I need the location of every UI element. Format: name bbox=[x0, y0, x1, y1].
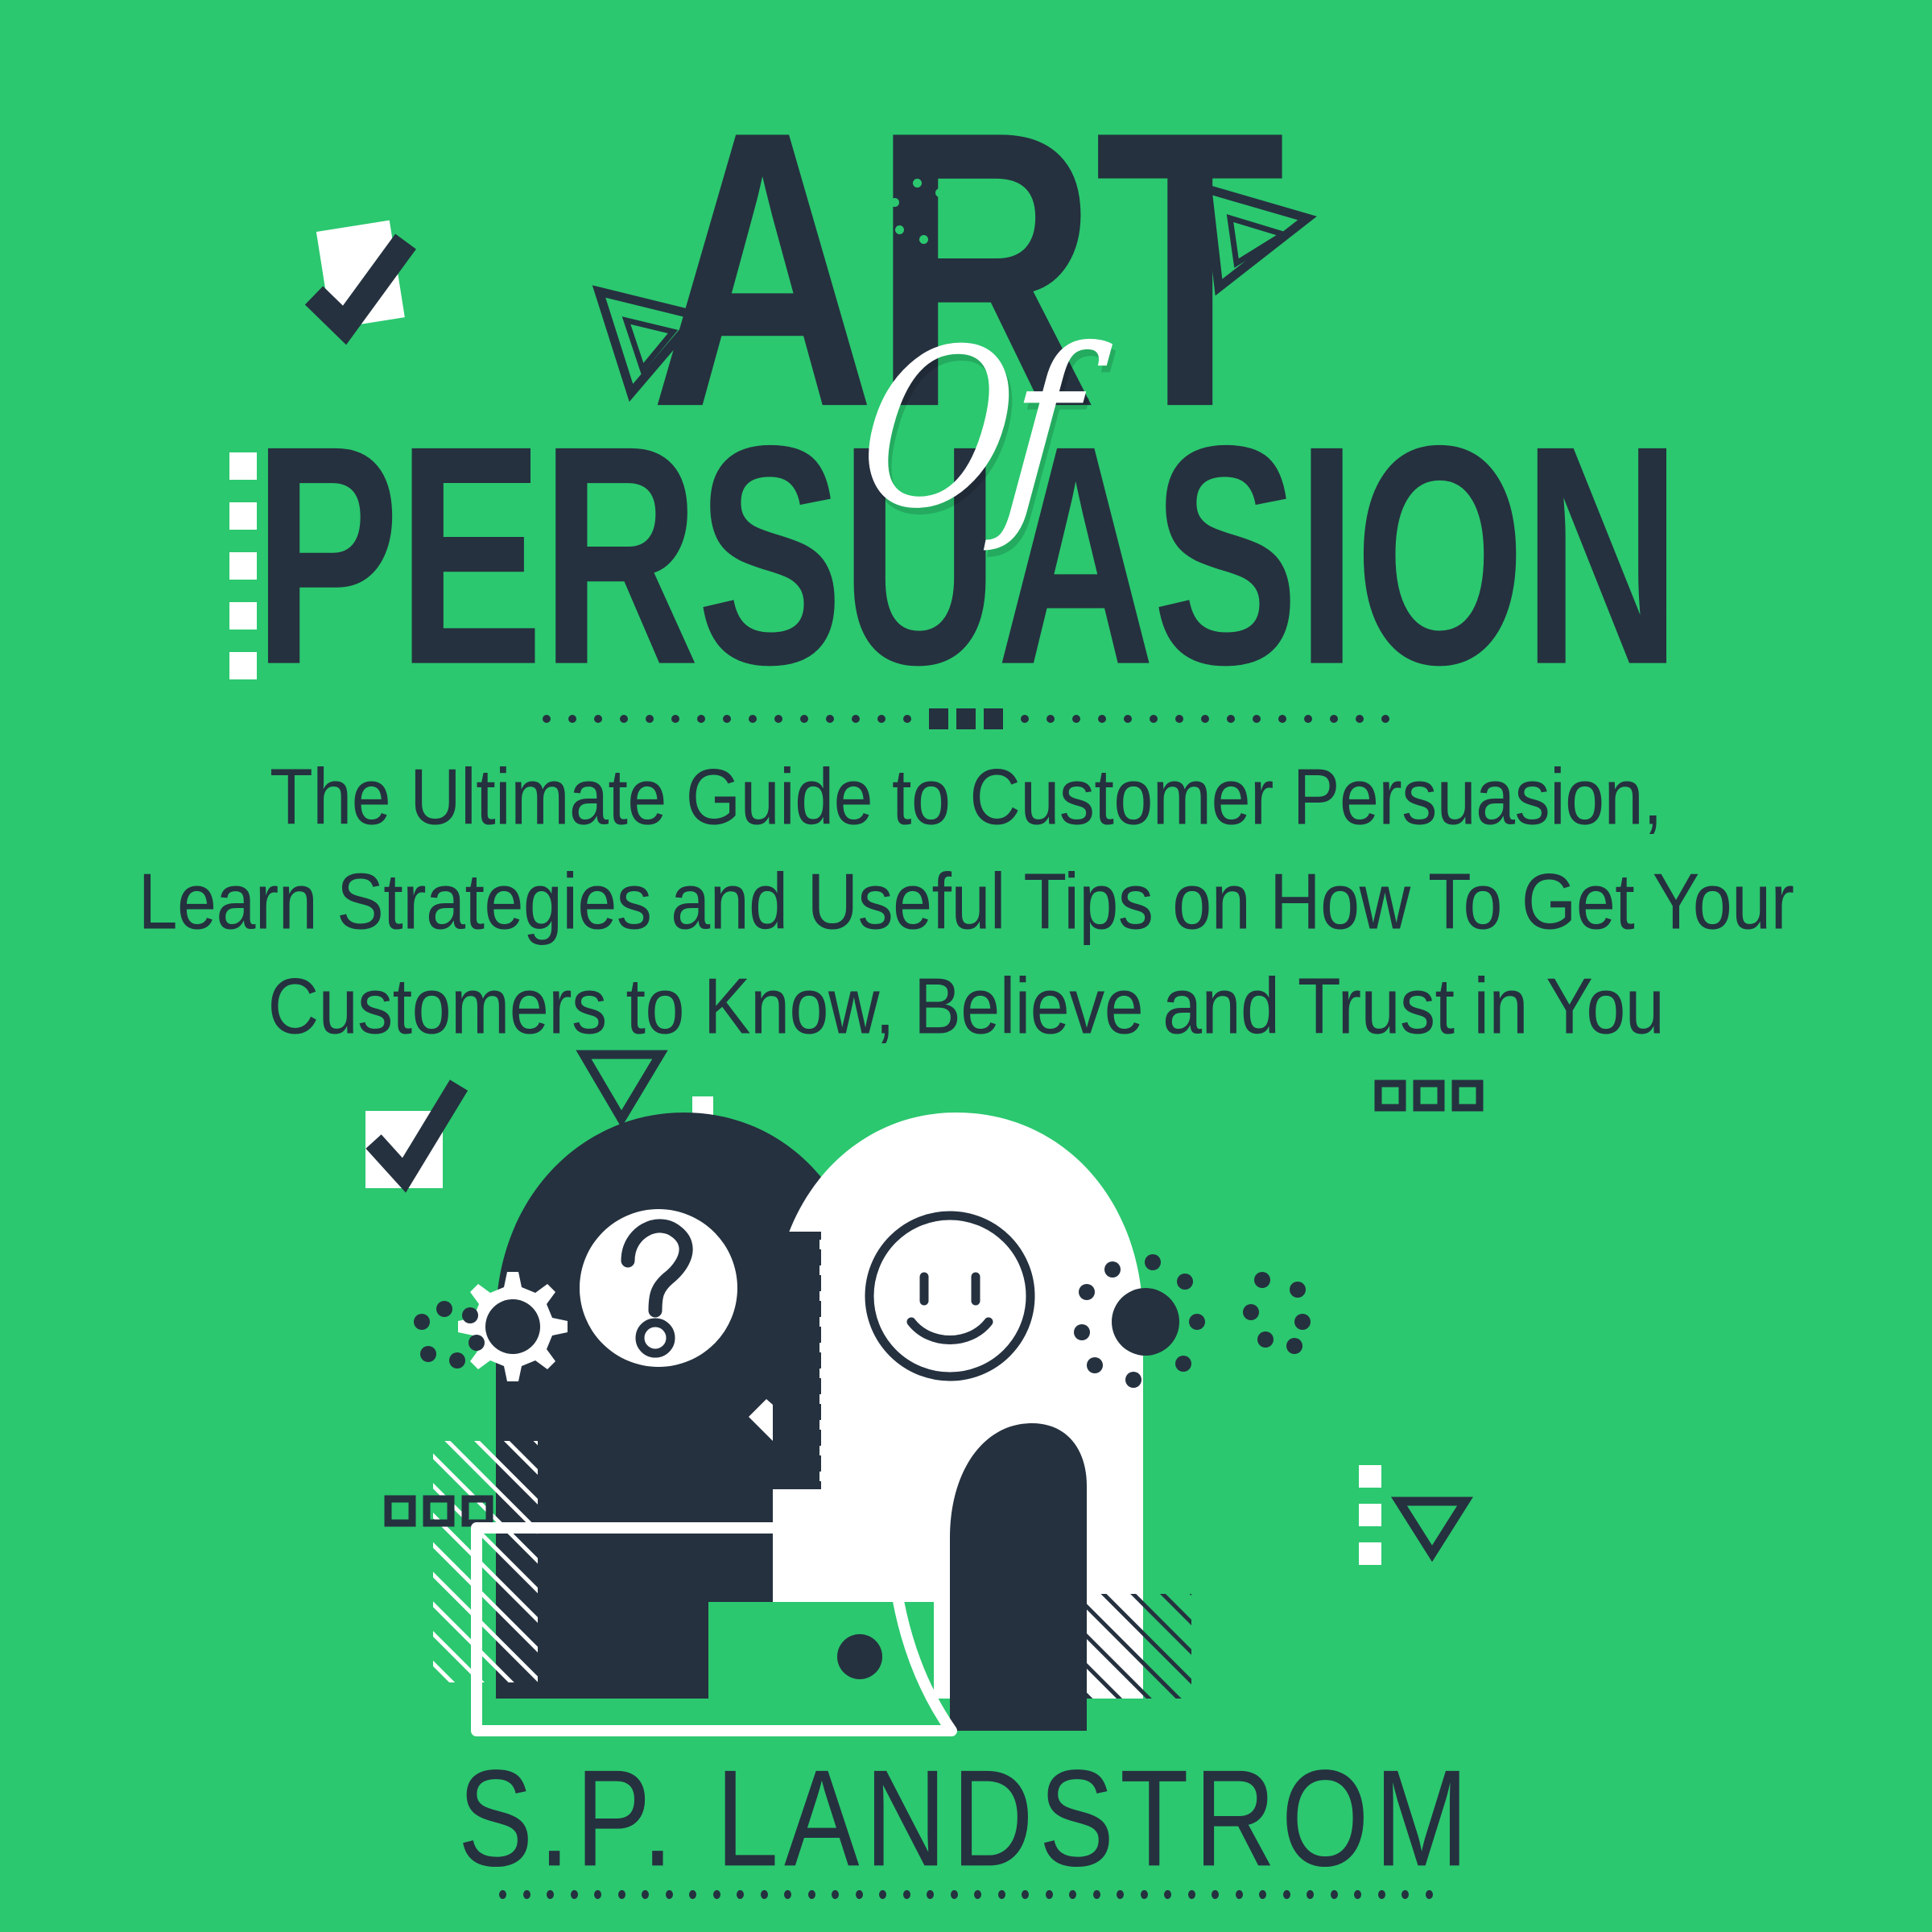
subtitle-line-2: Learn Strategies and Useful Tips on How … bbox=[105, 849, 1827, 954]
subtitle-block: The Ultimate Guide to Customer Persuasio… bbox=[105, 745, 1827, 1059]
triangle-down-outline-icon-right bbox=[1399, 1501, 1465, 1554]
divider-dots-left bbox=[543, 715, 911, 723]
title-divider bbox=[0, 708, 1932, 729]
triangle-down-outline-icon-top bbox=[584, 1055, 660, 1119]
gear-icon bbox=[458, 1272, 568, 1381]
author-rule bbox=[499, 1890, 1433, 1900]
title-block: ART PERSUASION Of bbox=[0, 0, 1932, 724]
solid-dot-icon bbox=[1112, 1288, 1179, 1356]
illustration bbox=[338, 1038, 1642, 1763]
subtitle-line-1: The Ultimate Guide to Customer Persuasio… bbox=[105, 745, 1827, 849]
title-script-of: Of bbox=[0, 338, 1932, 523]
radial-dot-ring-right-outer bbox=[1243, 1272, 1311, 1354]
book-cover: ART PERSUASION Of The Ultimate Guide to … bbox=[0, 0, 1932, 1932]
author-name: S.P. LANDSTROM bbox=[0, 1739, 1932, 1898]
divider-squares bbox=[929, 708, 1003, 729]
right-head-white bbox=[741, 1113, 1191, 1731]
title-script-of-text: Of bbox=[851, 321, 1081, 539]
illustration-svg bbox=[338, 1038, 1642, 1763]
white-square-column-right bbox=[1359, 1465, 1381, 1565]
divider-dots-right bbox=[1021, 715, 1389, 723]
checkmark-box-icon bbox=[365, 1085, 459, 1188]
dark-square-outline-trio-right bbox=[1378, 1084, 1480, 1108]
